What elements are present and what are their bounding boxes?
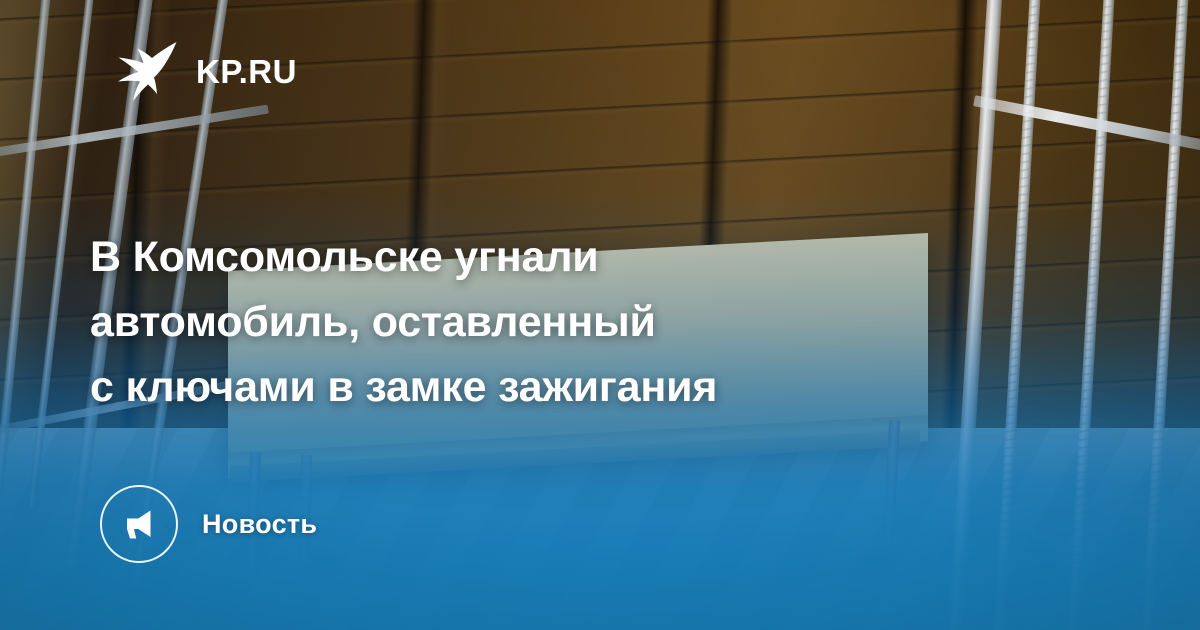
headline-line: с ключами в замке зажигания: [90, 355, 1020, 420]
megaphone-icon: [120, 505, 158, 543]
swallow-bird-icon: [112, 40, 178, 102]
badge-icon-circle: [100, 485, 178, 563]
status-badge[interactable]: Новость: [100, 485, 317, 563]
social-share-card: KP.RU В Комсомольске угнали автомобиль, …: [0, 0, 1200, 630]
brand-name: KP.RU: [196, 55, 297, 88]
headline-line: автомобиль, оставленный: [90, 290, 1020, 355]
brand-logo[interactable]: KP.RU: [112, 40, 297, 102]
page-title: В Комсомольске угнали автомобиль, оставл…: [90, 225, 1020, 420]
headline-line: В Комсомольске угнали: [90, 225, 1020, 290]
badge-label: Новость: [202, 509, 317, 540]
card-content: KP.RU В Комсомольске угнали автомобиль, …: [0, 0, 1200, 630]
